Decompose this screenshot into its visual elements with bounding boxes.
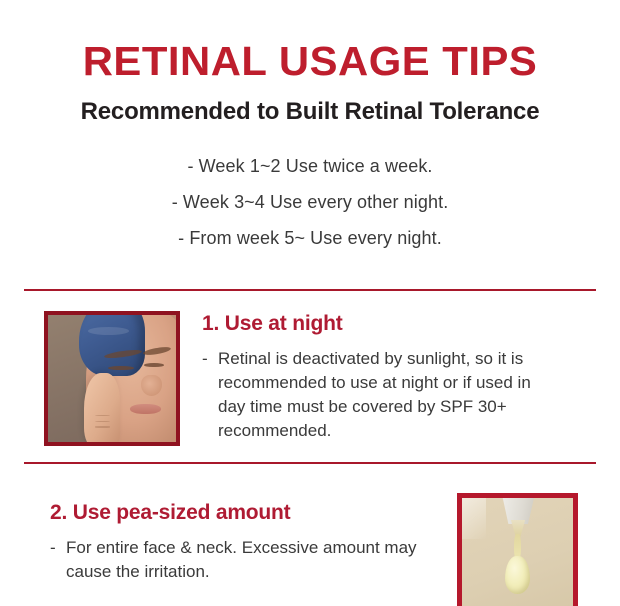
tolerance-schedule-list: - Week 1~2 Use twice a week. - Week 3~4 …: [0, 148, 620, 256]
lips: [130, 404, 161, 414]
list-item: - From week 5~ Use every night.: [0, 220, 620, 256]
page-subtitle: Recommended to Built Retinal Tolerance: [0, 98, 620, 126]
finger-line: [95, 421, 110, 422]
list-item: - Week 3~4 Use every other night.: [0, 184, 620, 220]
divider-top: [24, 289, 596, 291]
serum-droplet: [505, 556, 529, 594]
tip-2-list: - For entire face & neck. Excessive amou…: [50, 536, 450, 584]
list-item: - Retinal is deactivated by sunlight, so…: [202, 347, 554, 443]
dash-bullet: -: [50, 536, 56, 560]
header: RETINAL USAGE TIPS Recommended to Built …: [0, 0, 620, 126]
tip-2-body: For entire face & neck. Excessive amount…: [66, 538, 417, 581]
tip-section-2: 2. Use pea-sized amount - For entire fac…: [50, 500, 450, 584]
tip-1-list: - Retinal is deactivated by sunlight, so…: [202, 347, 554, 443]
photo-canvas: [462, 498, 573, 606]
tip-section-1: 1. Use at night - Retinal is deactivated…: [44, 311, 584, 446]
eye-left: [108, 366, 134, 370]
page-title: RETINAL USAGE TIPS: [0, 38, 620, 84]
finger-line: [95, 426, 110, 427]
infographic-page: RETINAL USAGE TIPS Recommended to Built …: [0, 0, 620, 606]
finger-line: [95, 415, 110, 416]
dash-bullet: -: [202, 347, 208, 371]
serum-dropper-photo: [457, 493, 578, 606]
photo-canvas: [48, 315, 176, 442]
list-item: - Week 1~2 Use twice a week.: [0, 148, 620, 184]
list-item: - For entire face & neck. Excessive amou…: [50, 536, 450, 584]
photo-highlight: [462, 498, 486, 539]
tip-2-heading: 2. Use pea-sized amount: [50, 500, 450, 526]
tip-1-text-block: 1. Use at night - Retinal is deactivated…: [202, 311, 554, 443]
tip-1-body: Retinal is deactivated by sunlight, so i…: [218, 349, 531, 440]
woman-touching-face-photo: [44, 311, 180, 446]
tip-1-heading: 1. Use at night: [202, 311, 554, 337]
divider-middle: [24, 462, 596, 464]
hand: [84, 373, 120, 446]
tip-2-text-block: 2. Use pea-sized amount - For entire fac…: [50, 500, 450, 584]
